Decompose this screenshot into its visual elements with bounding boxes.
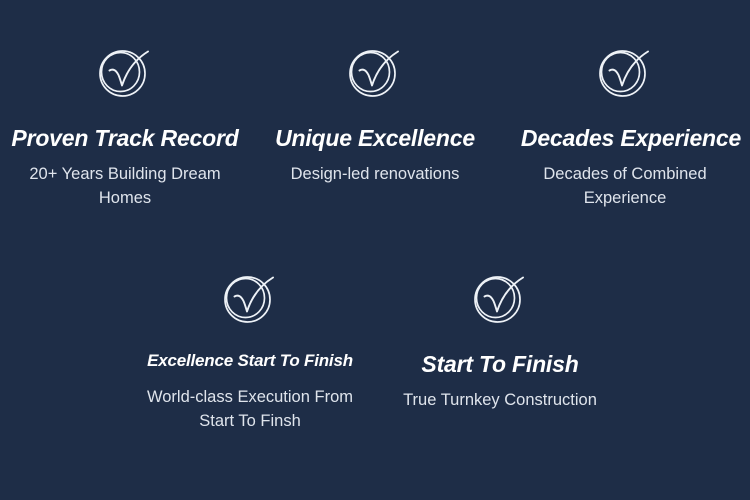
circle-checkmark-icon bbox=[219, 266, 281, 328]
feature-title: Proven Track Record bbox=[11, 124, 238, 152]
feature-description: World-class Execution From Start To Fins… bbox=[134, 385, 366, 433]
features-grid: Proven Track Record 20+ Years Building D… bbox=[0, 0, 750, 433]
features-section: Proven Track Record 20+ Years Building D… bbox=[0, 0, 750, 500]
circle-checkmark-icon bbox=[344, 40, 406, 102]
feature-card: Proven Track Record 20+ Years Building D… bbox=[0, 40, 250, 210]
feature-card: Decades Experience Decades of Combined E… bbox=[500, 40, 750, 210]
feature-card: Excellence Start To Finish World-class E… bbox=[125, 266, 375, 433]
circle-checkmark-icon bbox=[94, 40, 156, 102]
feature-description: True Turnkey Construction bbox=[403, 388, 597, 412]
circle-checkmark-icon bbox=[594, 40, 656, 102]
feature-title: Start To Finish bbox=[421, 350, 578, 378]
feature-card: Start To Finish True Turnkey Constructio… bbox=[375, 266, 625, 433]
feature-title: Decades Experience bbox=[521, 124, 741, 152]
feature-description: 20+ Years Building Dream Homes bbox=[9, 162, 241, 210]
feature-title: Unique Excellence bbox=[275, 124, 475, 152]
feature-description: Decades of Combined Experience bbox=[509, 162, 741, 210]
feature-description: Design-led renovations bbox=[291, 162, 460, 186]
feature-title: Excellence Start To Finish bbox=[147, 350, 353, 372]
feature-card: Unique Excellence Design-led renovations bbox=[250, 40, 500, 210]
circle-checkmark-icon bbox=[469, 266, 531, 328]
